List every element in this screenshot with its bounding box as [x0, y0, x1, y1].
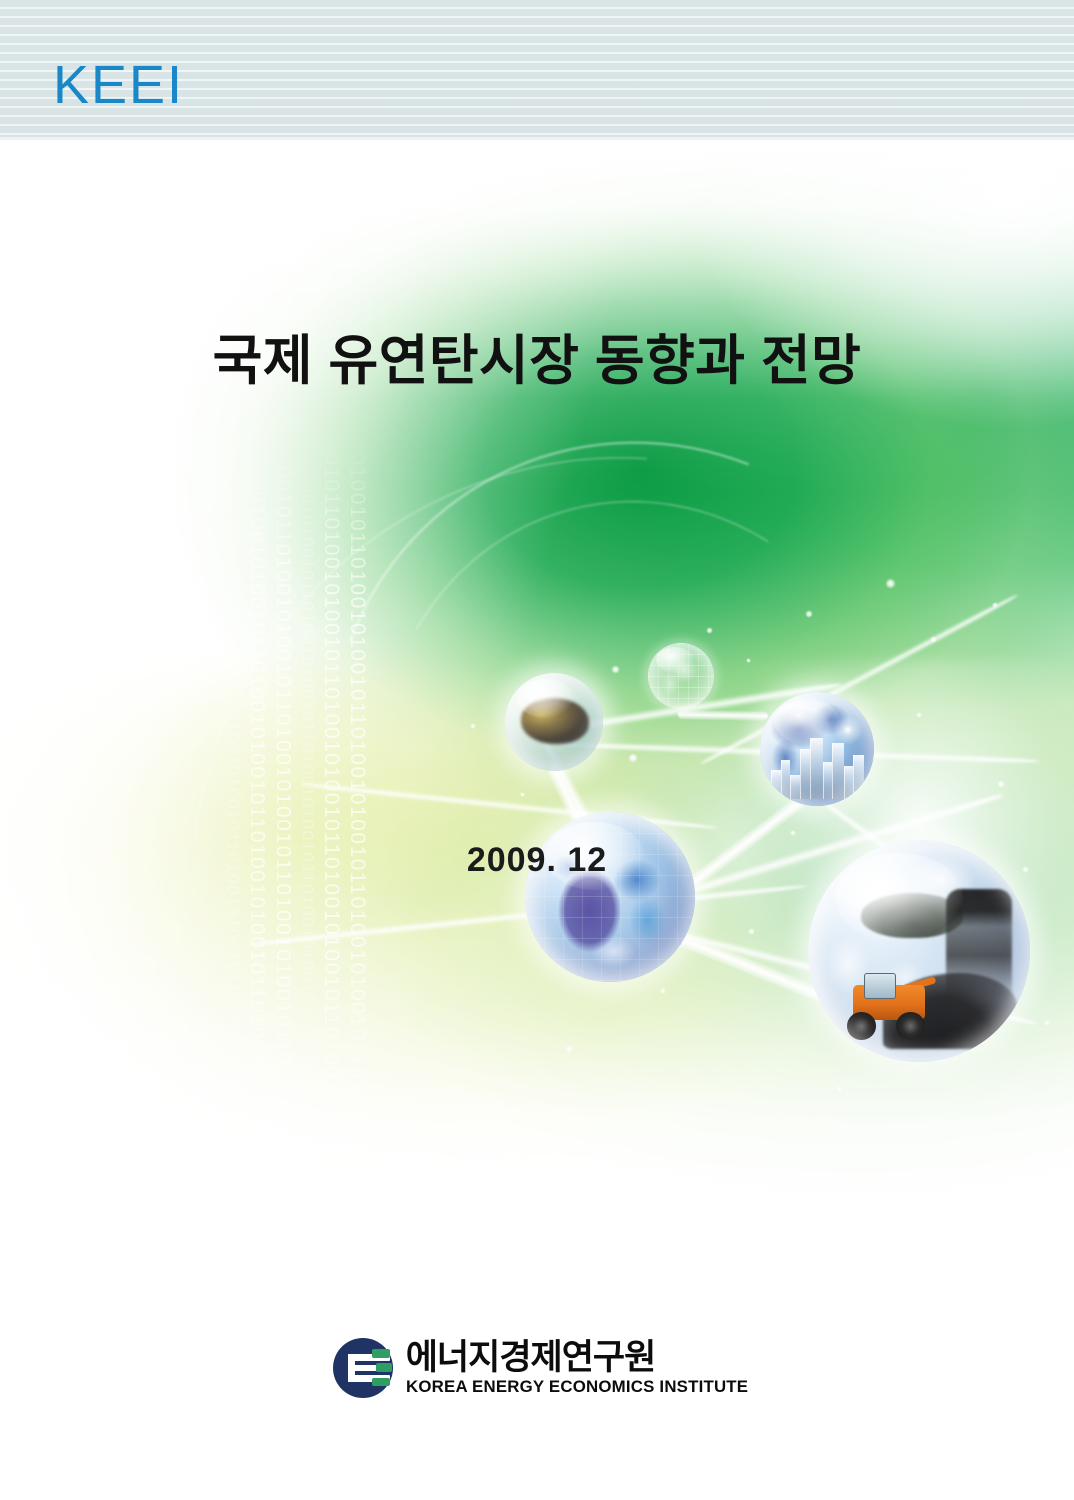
emblem-green-accent — [376, 1363, 392, 1372]
earth-graticule — [525, 812, 695, 982]
keei-emblem-icon — [333, 1338, 393, 1398]
loader-cab — [864, 973, 895, 999]
skyline-building — [781, 760, 790, 800]
earth-sphere — [525, 812, 695, 982]
skyline-building — [800, 749, 810, 799]
title-block: 국제 유연탄시장 동향과 전망 — [0, 330, 1074, 394]
emblem-green-accent — [372, 1349, 390, 1357]
mining-scene — [521, 698, 590, 743]
cover-page: KEEI 01010010101101001010010110100101001… — [0, 0, 1074, 1500]
loader-wheel — [896, 1012, 925, 1040]
loader-wheel — [847, 1012, 876, 1040]
institute-logo: 에너지경제연구원 KOREA ENERGY ECONOMICS INSTITUT… — [0, 1338, 1074, 1398]
institute-name-block: 에너지경제연구원 KOREA ENERGY ECONOMICS INSTITUT… — [406, 1340, 742, 1396]
skyline-building — [771, 770, 781, 799]
skyline-building — [844, 766, 854, 799]
emblem-green-accent — [372, 1378, 390, 1386]
ghost-graticule — [648, 643, 714, 709]
institute-name-english: KOREA ENERGY ECONOMICS INSTITUTE — [406, 1379, 748, 1396]
skyline-building — [790, 775, 801, 799]
date-block: 2009. 12 — [0, 841, 1074, 880]
skyline-building — [853, 755, 864, 800]
sun-glint — [831, 713, 865, 747]
skyline-building — [810, 738, 823, 799]
institute-name-korean: 에너지경제연구원 — [406, 1340, 742, 1375]
publication-date: 2009. 12 — [467, 841, 607, 880]
ghost-globe-sphere — [648, 643, 714, 709]
skyline-building — [832, 743, 844, 799]
wheel-loader — [839, 973, 937, 1040]
skyline-building — [823, 762, 832, 799]
city-sphere — [760, 692, 874, 806]
page-title: 국제 유연탄시장 동향과 전망 — [0, 330, 1074, 394]
keei-logotype: KEEI — [53, 58, 184, 112]
